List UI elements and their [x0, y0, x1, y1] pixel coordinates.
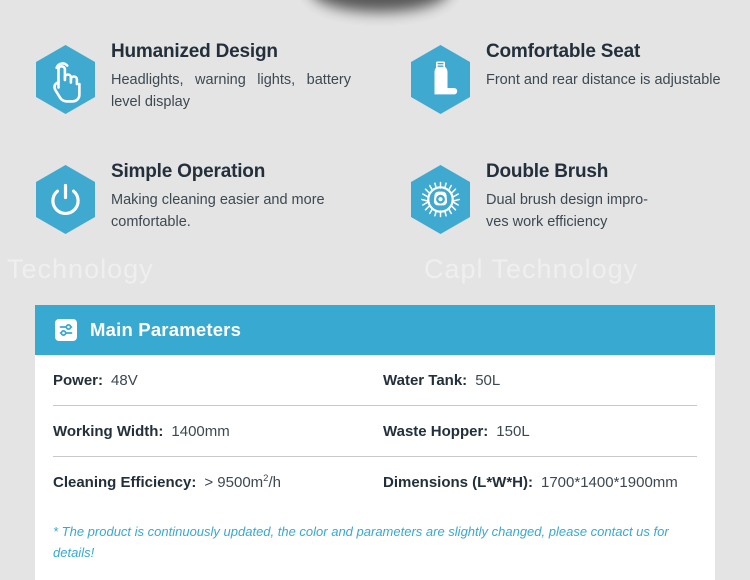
parameter-cleaning-efficiency: Cleaning Efficiency: > 9500m2/h	[53, 473, 383, 491]
feature-title: Humanized Design	[111, 42, 351, 63]
feature-item-simple-operation: Simple Operation Making cleaning easier …	[0, 160, 375, 280]
features-grid: Humanized Design Headlights, warning lig…	[0, 40, 750, 290]
feature-title: Simple Operation	[111, 162, 351, 183]
parameter-value: > 9500m2/h	[204, 473, 281, 491]
parameter-label: Dimensions (L*W*H):	[383, 474, 533, 491]
parameter-waste-hopper: Waste Hopper: 150L	[383, 423, 530, 440]
main-parameters-card: Main Parameters Power: 48V Water Tank: 5…	[35, 305, 715, 580]
feature-title: Comfortable Seat	[486, 42, 721, 63]
parameter-value: 48V	[111, 372, 138, 389]
parameters-rows: Power: 48V Water Tank: 50L Working Width…	[35, 355, 715, 507]
parameter-value: 1700*1400*1900mm	[541, 474, 678, 491]
parameter-water-tank: Water Tank: 50L	[383, 372, 500, 389]
parameter-label: Cleaning Efficiency:	[53, 474, 196, 491]
feature-description: Front and rear distance is adjustable	[486, 69, 721, 91]
parameter-value: 1400mm	[171, 423, 229, 440]
parameter-value: 150L	[496, 423, 529, 440]
feature-item-double-brush: Double Brush Dual brush design impro-ves…	[375, 160, 750, 280]
feature-description: Making cleaning easier and more comforta…	[111, 189, 351, 233]
feature-item-humanized-design: Humanized Design Headlights, warning lig…	[0, 40, 375, 160]
parameter-row: Cleaning Efficiency: > 9500m2/h Dimensio…	[53, 457, 697, 507]
product-image-shadow	[310, 0, 450, 12]
feature-description: Dual brush design impro-ves work efficie…	[486, 189, 648, 233]
parameter-label: Waste Hopper:	[383, 423, 488, 440]
feature-title: Double Brush	[486, 162, 648, 183]
sliders-icon	[55, 319, 77, 341]
parameter-power: Power: 48V	[53, 372, 383, 389]
feature-item-comfortable-seat: Comfortable Seat Front and rear distance…	[375, 40, 750, 160]
parameter-label: Working Width:	[53, 423, 163, 440]
main-parameters-header: Main Parameters	[35, 305, 715, 355]
parameter-row: Power: 48V Water Tank: 50L	[53, 355, 697, 406]
feature-description: Headlights, warning lights, battery leve…	[111, 69, 351, 113]
parameter-label: Water Tank:	[383, 372, 467, 389]
power-button-icon	[34, 164, 97, 235]
main-parameters-title: Main Parameters	[90, 319, 241, 341]
car-seat-icon	[409, 44, 472, 115]
parameter-working-width: Working Width: 1400mm	[53, 423, 383, 440]
hand-tap-icon	[34, 44, 97, 115]
brush-icon	[409, 164, 472, 235]
parameters-disclaimer-note: * The product is continuously updated, t…	[35, 507, 715, 563]
parameter-label: Power:	[53, 372, 103, 389]
parameter-dimensions: Dimensions (L*W*H): 1700*1400*1900mm	[383, 474, 678, 491]
parameter-value: 50L	[475, 372, 500, 389]
parameter-row: Working Width: 1400mm Waste Hopper: 150L	[53, 406, 697, 457]
